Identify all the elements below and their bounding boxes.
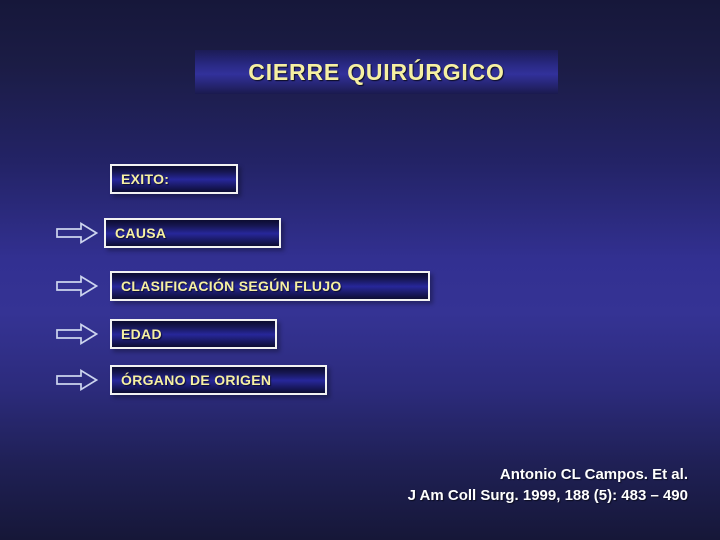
citation-block: Antonio CL Campos. Et al. J Am Coll Surg… [408, 464, 688, 506]
list-item-box: EXITO: [110, 164, 238, 194]
right-block-arrow-icon [56, 275, 98, 297]
list-item-label: EDAD [112, 326, 162, 342]
list-item-box: CLASIFICACIÓN SEGÚN FLUJO [110, 271, 430, 301]
arrow-slot [0, 369, 58, 391]
right-block-arrow-icon [56, 222, 98, 244]
list-item-label: ÓRGANO DE ORIGEN [112, 372, 271, 388]
list-item: EDAD [0, 317, 277, 351]
arrow-slot [0, 222, 58, 244]
page-title: CIERRE QUIRÚRGICO [248, 59, 504, 86]
presentation-slide: CIERRE QUIRÚRGICO EXITO:CAUSACLASIFICACI… [0, 0, 720, 540]
list-item-box: ÓRGANO DE ORIGEN [110, 365, 327, 395]
list-item-label: CLASIFICACIÓN SEGÚN FLUJO [112, 278, 342, 294]
citation-line-1: Antonio CL Campos. Et al. [408, 464, 688, 485]
list-item: CAUSA [0, 216, 281, 250]
list-item: CLASIFICACIÓN SEGÚN FLUJO [0, 269, 430, 303]
arrow-slot [0, 323, 58, 345]
right-block-arrow-icon [56, 323, 98, 345]
list-item: EXITO: [0, 162, 238, 196]
arrow-slot [0, 275, 58, 297]
list-item-label: CAUSA [106, 225, 166, 241]
list-item: ÓRGANO DE ORIGEN [0, 363, 327, 397]
list-item-label: EXITO: [112, 171, 169, 187]
list-item-box: CAUSA [104, 218, 281, 248]
slide-title-banner: CIERRE QUIRÚRGICO [195, 50, 558, 94]
citation-line-2: J Am Coll Surg. 1999, 188 (5): 483 – 490 [408, 485, 688, 506]
right-block-arrow-icon [56, 369, 98, 391]
list-item-box: EDAD [110, 319, 277, 349]
